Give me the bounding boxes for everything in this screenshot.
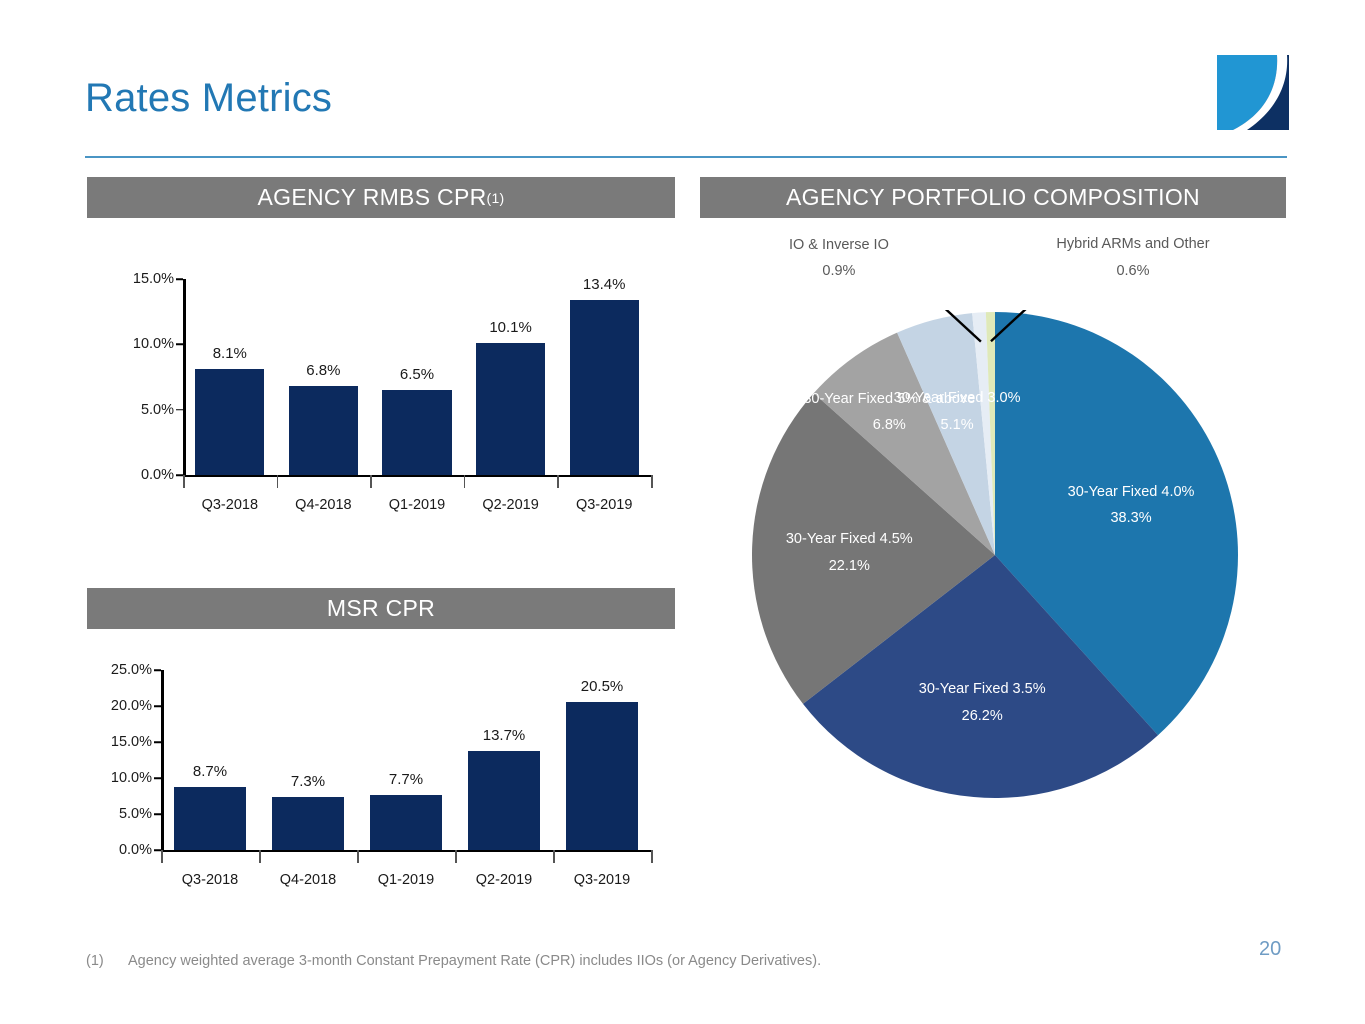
page-title: Rates Metrics bbox=[85, 76, 332, 121]
pie-slice-value: 0.6% bbox=[1018, 258, 1248, 285]
footnote-text: Agency weighted average 3-month Constant… bbox=[128, 953, 821, 969]
y-axis-label: 5.0% bbox=[141, 402, 183, 418]
footnote-marker: (1) bbox=[86, 953, 128, 969]
chart-agency-rmbs-cpr: 0.0%5.0%10.0%15.0%8.1%Q3-20186.8%Q4-2018… bbox=[183, 279, 651, 475]
x-axis-tick bbox=[651, 475, 653, 488]
bar-value-label: 13.4% bbox=[583, 276, 626, 293]
x-axis-tick bbox=[651, 850, 653, 863]
x-axis-tick bbox=[553, 850, 555, 863]
footnote: (1)Agency weighted average 3-month Const… bbox=[86, 953, 821, 969]
bar-Q3-2018 bbox=[195, 369, 264, 475]
x-axis-tick bbox=[259, 850, 261, 863]
section-header-label: AGENCY PORTFOLIO COMPOSITION bbox=[786, 184, 1200, 211]
x-axis-tick bbox=[370, 475, 372, 488]
bar-value-label: 10.1% bbox=[489, 319, 532, 336]
x-axis-label: Q1-2019 bbox=[389, 497, 445, 513]
x-axis-label: Q3-2018 bbox=[182, 872, 238, 888]
y-axis-label: 0.0% bbox=[141, 467, 183, 483]
chart-agency-portfolio-composition: 30-Year Fixed 4.0%38.3%30-Year Fixed 3.5… bbox=[745, 310, 1245, 800]
x-axis-label: Q3-2019 bbox=[574, 872, 630, 888]
y-axis-label: 25.0% bbox=[111, 662, 161, 678]
x-axis-label: Q4-2018 bbox=[280, 872, 336, 888]
bar-Q2-2019 bbox=[468, 751, 541, 850]
section-header-msr-cpr: MSR CPR bbox=[87, 588, 675, 629]
bar-Q3-2019 bbox=[566, 702, 639, 850]
bar-value-label: 7.7% bbox=[389, 771, 423, 788]
bar-Q1-2019 bbox=[382, 390, 451, 475]
bar-Q4-2018 bbox=[289, 386, 358, 475]
bar-value-label: 8.1% bbox=[213, 345, 247, 362]
y-axis-label: 5.0% bbox=[119, 806, 161, 822]
y-axis-line bbox=[183, 279, 186, 475]
y-axis-label: 0.0% bbox=[119, 842, 161, 858]
section-header-label: AGENCY RMBS CPR bbox=[257, 184, 486, 211]
y-axis-label: 15.0% bbox=[111, 734, 161, 750]
x-axis-tick bbox=[183, 475, 185, 488]
pie-label-hybrid-arms-and-other: Hybrid ARMs and Other0.6% bbox=[1018, 231, 1248, 285]
section-header-label: MSR CPR bbox=[327, 595, 435, 622]
y-axis-line bbox=[161, 670, 164, 850]
x-axis-label: Q3-2018 bbox=[202, 497, 258, 513]
pie-label-io-inverse-io: IO & Inverse IO0.9% bbox=[724, 232, 954, 286]
chart-plot-area: 0.0%5.0%10.0%15.0%8.1%Q3-20186.8%Q4-2018… bbox=[183, 279, 651, 475]
section-header-agency-portfolio-composition: AGENCY PORTFOLIO COMPOSITION bbox=[700, 177, 1286, 218]
bar-value-label: 13.7% bbox=[483, 727, 526, 744]
y-axis-label: 15.0% bbox=[133, 271, 183, 287]
x-axis-label: Q2-2019 bbox=[476, 872, 532, 888]
bar-Q3-2018 bbox=[174, 787, 247, 850]
x-axis-tick bbox=[357, 850, 359, 863]
bar-value-label: 7.3% bbox=[291, 773, 325, 790]
section-header-agency-rmbs-cpr: AGENCY RMBS CPR(1) bbox=[87, 177, 675, 218]
y-axis-label: 10.0% bbox=[133, 336, 183, 352]
x-axis-tick bbox=[557, 475, 559, 488]
bar-value-label: 6.5% bbox=[400, 366, 434, 383]
bar-Q2-2019 bbox=[476, 343, 545, 475]
x-axis-tick bbox=[455, 850, 457, 863]
x-axis-label: Q1-2019 bbox=[378, 872, 434, 888]
bar-Q1-2019 bbox=[370, 795, 443, 850]
bar-Q4-2018 bbox=[272, 797, 345, 850]
title-divider bbox=[85, 156, 1287, 158]
x-axis-label: Q3-2019 bbox=[576, 497, 632, 513]
x-axis-tick bbox=[277, 475, 279, 488]
bar-Q3-2019 bbox=[570, 300, 639, 475]
pie-slice-label: Hybrid ARMs and Other bbox=[1018, 231, 1248, 258]
bar-value-label: 6.8% bbox=[306, 362, 340, 379]
pie-slice-label: IO & Inverse IO bbox=[724, 232, 954, 259]
x-axis-label: Q4-2018 bbox=[295, 497, 351, 513]
x-axis-tick bbox=[161, 850, 163, 863]
x-axis-label: Q2-2019 bbox=[482, 497, 538, 513]
chart-plot-area: 0.0%5.0%10.0%15.0%20.0%25.0%8.7%Q3-20187… bbox=[161, 670, 651, 850]
page-number: 20 bbox=[1259, 938, 1281, 961]
pie-chart-svg bbox=[745, 310, 1245, 800]
bar-value-label: 8.7% bbox=[193, 763, 227, 780]
pie-slice-value: 0.9% bbox=[724, 258, 954, 285]
bar-value-label: 20.5% bbox=[581, 678, 624, 695]
company-logo-icon bbox=[1217, 55, 1289, 130]
y-axis-label: 10.0% bbox=[111, 770, 161, 786]
x-axis-tick bbox=[464, 475, 466, 488]
chart-msr-cpr: 0.0%5.0%10.0%15.0%20.0%25.0%8.7%Q3-20187… bbox=[161, 670, 651, 850]
y-axis-label: 20.0% bbox=[111, 698, 161, 714]
